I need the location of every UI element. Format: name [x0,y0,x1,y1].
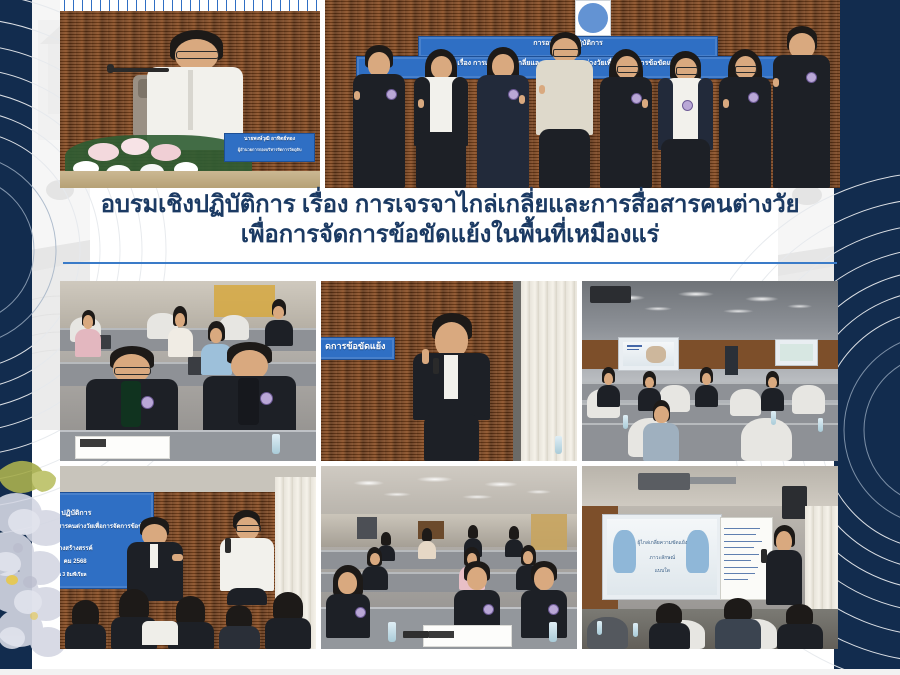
projection-screen-left [618,337,679,371]
title-divider-rule [63,262,837,264]
nameplate-name: นายพงษ์วุฒิ อาทิตย์ทอง [225,134,313,145]
decorative-band-right [834,0,900,675]
ceiling-projector [638,473,689,489]
bottom-edge-band [0,669,900,675]
organization-emblem [575,0,611,36]
poster-title-line-1: อบรมเชิงปฏิบัติการ เรื่อง การเจรจาไกล่เก… [60,190,840,220]
poster-title-block: อบรมเชิงปฏิบัติการ เรื่อง การเจรจาไกล่เก… [60,190,840,264]
poster-title-line-2: เพื่อการจัดการข้อขัดแย้งในพื้นที่เหมืองแ… [60,220,840,250]
event-poster: นายพงษ์วุฒิ อาทิตย์ทอง ผู้อำนวยการกองบริ… [0,0,900,675]
photo-group-thumbs-up: การอบรมเชิงปฏิบัติการ เรื่อง การเจรจาไกล… [325,0,840,188]
decorative-band-left [0,0,32,675]
photo-row-top: นายพงษ์วุฒิ อาทิตย์ทอง ผู้อำนวยการกองบริ… [60,0,840,188]
photo-speaker-microphone: ดการข้อขัดแย้ง [321,281,577,461]
speaker-nameplate: นายพงษ์วุฒิ อาทิตย์ทอง ผู้อำนวยการกองบริ… [224,133,314,161]
photo-opening-speaker: นายพงษ์วุฒิ อาทิตย์ทอง ผู้อำนวยการกองบริ… [60,0,320,188]
photo-grid: ดการข้อขัดแย้ง [60,281,840,649]
photo-grid-row-2: ปฏิบัติการ รสื่อสารคนต่างวัยเพื่อการจัดก… [60,466,840,649]
wall-banner: ดการข้อขัดแย้ง [321,337,395,361]
photo-projector-presentation: ผู้ไกล่เกลี่ยความขัดแย้ง ภาวะลักษณ์ แบบใ… [582,466,838,649]
photo-seminar-room-wide [582,281,838,461]
photo-grid-row-1: ดการข้อขัดแย้ง [60,281,840,461]
nameplate-role: ผู้อำนวยการกองบริหารจัดการวัตถุดิบ [225,145,313,154]
projection-screen-right [775,339,818,366]
photo-two-attendees-front [60,281,316,461]
photo-participants-tables [321,466,577,649]
ceiling-speaker [782,486,808,519]
photo-two-presenters-stage: ปฏิบัติการ รสื่อสารคนต่างวัยเพื่อการจัดก… [60,466,316,649]
